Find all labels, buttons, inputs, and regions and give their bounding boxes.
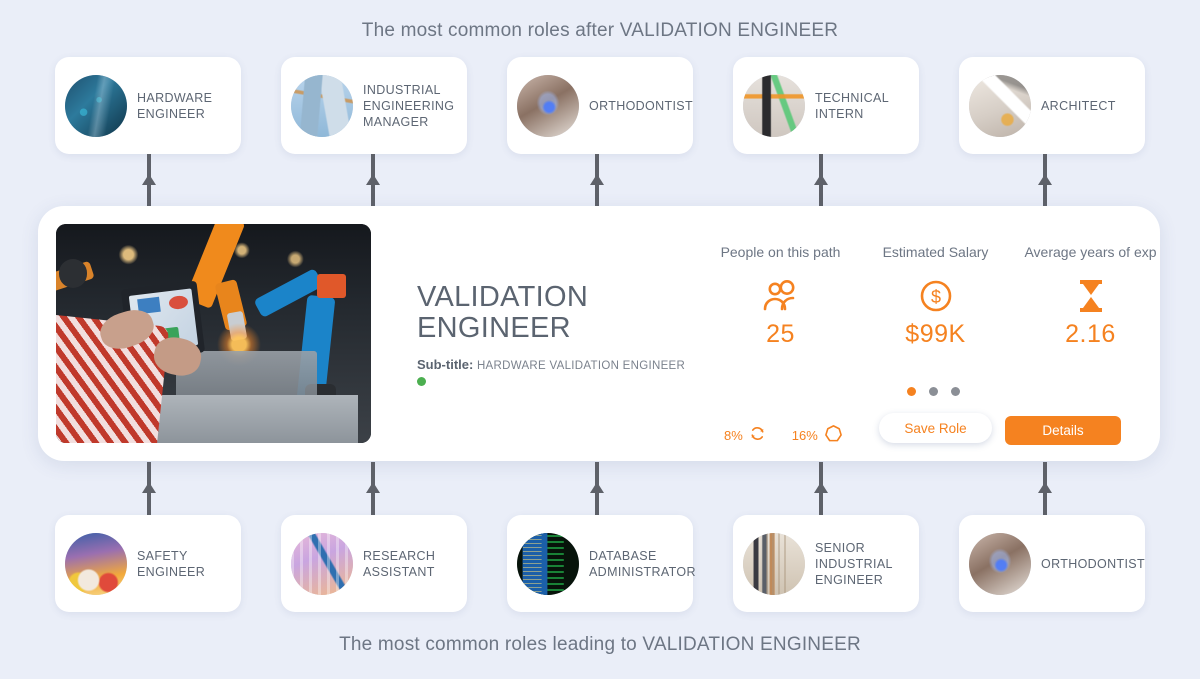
role-card-senior-industrial-engineer[interactable]: SENIOR INDUSTRIAL ENGINEER [733,515,919,612]
svg-text:$: $ [930,287,940,307]
role-thumbnail-architecture-model-icon [969,75,1031,137]
stat-people-on-this-path: People on this path 25 [703,244,858,349]
percent-value: 16% [792,428,818,443]
hourglass-icon [1013,276,1168,316]
status-dot [417,377,426,386]
main-title-block: VALIDATION ENGINEER Sub-title: HARDWARE … [417,282,707,386]
arrow-up-1 [142,154,156,212]
role-card-orthodontist[interactable]: ORTHODONTIST [507,57,693,154]
role-card-research-assistant[interactable]: RESEARCH ASSISTANT [281,515,467,612]
role-card-database-administrator[interactable]: DATABASE ADMINISTRATOR [507,515,693,612]
role-card-label: ARCHITECT [1041,98,1116,114]
role-thumbnail-safety-helmet-icon [65,533,127,595]
role-card-label: HARDWARE ENGINEER [137,90,231,122]
role-card-technical-intern[interactable]: TECHNICAL INTERN [733,57,919,154]
role-card-hardware-engineer[interactable]: HARDWARE ENGINEER [55,57,241,154]
percent-value: 8% [724,428,743,443]
arrow-up-3 [590,154,604,212]
role-thumbnail-robot-icon [743,75,805,137]
stat-value: 2.16 [1013,320,1168,349]
role-thumbnail-circuit-board-icon [65,75,127,137]
people-icon [703,276,858,316]
role-card-architect[interactable]: ARCHITECT [959,57,1145,154]
stat-label: People on this path [703,244,858,260]
stat-value: 25 [703,320,858,349]
pagination-dot-1[interactable] [907,387,916,396]
arrow-up-4 [814,154,828,212]
main-role-card: VALIDATION ENGINEER Sub-title: HARDWARE … [38,206,1160,461]
role-thumbnail-dental-icon [517,75,579,137]
arrow-up-8 [590,462,604,518]
page-title: VALIDATION ENGINEER [417,282,707,344]
role-card-label: RESEARCH ASSISTANT [363,548,457,580]
stat-value: $99K [858,320,1013,349]
role-thumbnail-dental-icon [969,533,1031,595]
roles-leading-to-row: SAFETY ENGINEER RESEARCH ASSISTANT DATAB… [55,515,1145,612]
subtitle-label: Sub-title: [417,357,473,372]
arrow-up-2 [366,154,380,212]
role-thumbnail-team-warehouse-icon [743,533,805,595]
arrow-up-9 [814,462,828,518]
role-thumbnail-skyscraper-icon [291,75,353,137]
pagination-dot-2[interactable] [929,387,938,396]
arrow-up-6 [142,462,156,518]
stats-row: People on this path 25 Estimated Salary … [703,244,1168,349]
details-button[interactable]: Details [1005,416,1121,445]
hero-image-engineer-tablet-robot [56,224,371,443]
roles-after-row: HARDWARE ENGINEER INDUSTRIAL ENGINEERING… [55,57,1145,154]
pagination-dots[interactable] [878,387,988,396]
percent-indicators: 8% 16% [724,424,843,446]
heptagon-outline-icon [824,424,843,446]
arrow-up-5 [1038,154,1052,212]
caption-roles-after: The most common roles after VALIDATION E… [0,20,1200,42]
save-role-button[interactable]: Save Role [879,413,992,443]
stat-label: Average years of exp [1013,244,1168,260]
subtitle-value: HARDWARE VALIDATION ENGINEER [477,360,685,372]
role-card-label: ORTHODONTIST [589,98,693,114]
role-thumbnail-server-code-icon [517,533,579,595]
role-card-orthodontist-bottom[interactable]: ORTHODONTIST [959,515,1145,612]
role-thumbnail-lab-pipette-icon [291,533,353,595]
role-card-label: ORTHODONTIST [1041,556,1145,572]
arrow-up-10 [1038,462,1052,518]
role-card-label: TECHNICAL INTERN [815,90,909,122]
caption-roles-leading-to: The most common roles leading to VALIDAT… [0,634,1200,656]
arrow-up-7 [366,462,380,518]
stat-estimated-salary: Estimated Salary $ $99K [858,244,1013,349]
role-card-label: SENIOR INDUSTRIAL ENGINEER [815,540,909,588]
role-card-label: DATABASE ADMINISTRATOR [589,548,696,580]
dollar-circle-icon: $ [858,276,1013,316]
role-card-label: SAFETY ENGINEER [137,548,231,580]
role-card-industrial-engineering-manager[interactable]: INDUSTRIAL ENGINEERING MANAGER [281,57,467,154]
role-card-label: INDUSTRIAL ENGINEERING MANAGER [363,82,457,130]
stat-label: Estimated Salary [858,244,1013,260]
stat-average-years-exp: Average years of exp 2.16 [1013,244,1168,349]
role-card-safety-engineer[interactable]: SAFETY ENGINEER [55,515,241,612]
refresh-circle-icon [749,425,766,445]
percent-turnover: 8% [724,425,766,445]
pagination-dot-3[interactable] [951,387,960,396]
subtitle-line: Sub-title: HARDWARE VALIDATION ENGINEER [417,357,707,372]
percent-growth: 16% [792,424,843,446]
